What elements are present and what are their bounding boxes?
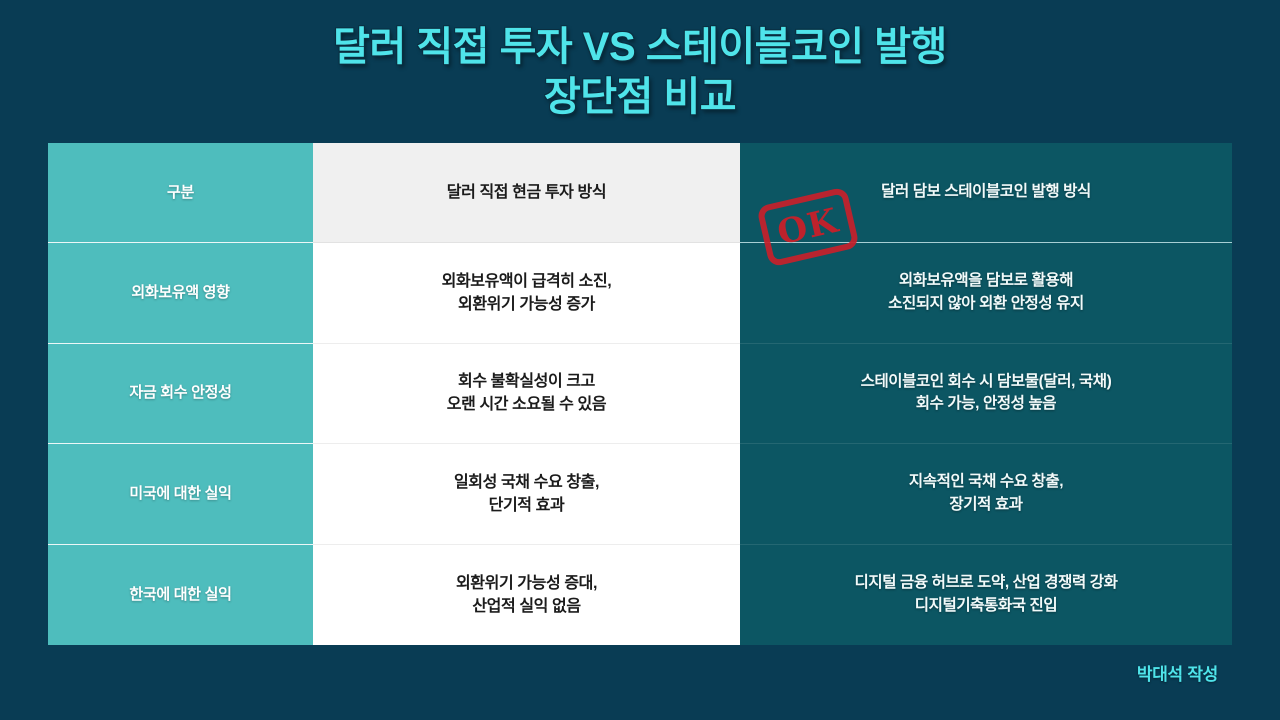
row-col3-cell: 외화보유액을 담보로 활용해 소진되지 않아 외환 안정성 유지 <box>740 243 1232 344</box>
row-col2-cell: 외화보유액이 급격히 소진, 외환위기 가능성 증가 <box>313 243 740 344</box>
table-row: 한국에 대한 실익 외환위기 가능성 증대, 산업적 실익 없음 디지털 금융 … <box>48 545 1232 646</box>
table-header-col3: 달러 담보 스테이블코인 발행 방식 <box>740 143 1232 243</box>
table-header-col2: 달러 직접 현금 투자 방식 <box>313 143 740 243</box>
row-col2-line-2: 단기적 효과 <box>454 494 599 517</box>
row-label-cell: 한국에 대한 실익 <box>48 545 313 646</box>
row-col3-line-2: 디지털기축통화국 진입 <box>855 595 1118 617</box>
page-title-line-2: 장단점 비교 <box>0 72 1280 122</box>
row-label-cell: 자금 회수 안정성 <box>48 344 313 445</box>
table-header-col2-label: 달러 직접 현금 투자 방식 <box>447 181 606 204</box>
row-col3-text: 스테이블코인 회수 시 담보물(달러, 국채) 회수 가능, 안정성 높음 <box>861 371 1112 416</box>
row-col3-line-2: 장기적 효과 <box>909 494 1063 516</box>
table-row: 미국에 대한 실익 일회성 국채 수요 창출, 단기적 효과 지속적인 국채 수… <box>48 444 1232 545</box>
row-label: 자금 회수 안정성 <box>129 382 231 404</box>
row-col2-text: 외화보유액이 급격히 소진, 외환위기 가능성 증가 <box>442 270 612 316</box>
table-row: 외화보유액 영향 외화보유액이 급격히 소진, 외환위기 가능성 증가 외화보유… <box>48 243 1232 344</box>
row-col3-text: 디지털 금융 허브로 도약, 산업 경쟁력 강화 디지털기축통화국 진입 <box>855 572 1118 617</box>
row-col2-line-1: 일회성 국채 수요 창출, <box>454 471 599 494</box>
table-row: 자금 회수 안정성 회수 불확실성이 크고 오랜 시간 소요될 수 있음 스테이… <box>48 344 1232 445</box>
slide-root: 달러 직접 투자 VS 스테이블코인 발행 장단점 비교 구분 달러 직접 현금… <box>0 0 1280 720</box>
row-col3-line-1: 지속적인 국채 수요 창출, <box>909 471 1063 493</box>
row-col2-cell: 일회성 국채 수요 창출, 단기적 효과 <box>313 444 740 545</box>
footer-credit: 박대석 작성 <box>1137 660 1218 685</box>
page-title: 달러 직접 투자 VS 스테이블코인 발행 장단점 비교 <box>0 22 1280 122</box>
row-col2-line-1: 외화보유액이 급격히 소진, <box>442 270 612 293</box>
row-col3-line-1: 스테이블코인 회수 시 담보물(달러, 국채) <box>861 371 1112 393</box>
row-col2-line-2: 오랜 시간 소요될 수 있음 <box>447 393 606 416</box>
row-col2-text: 일회성 국채 수요 창출, 단기적 효과 <box>454 471 599 517</box>
row-col3-line-1: 외화보유액을 담보로 활용해 <box>888 270 1084 292</box>
row-col3-line-2: 회수 가능, 안정성 높음 <box>861 393 1112 415</box>
page-title-line-1: 달러 직접 투자 VS 스테이블코인 발행 <box>0 22 1280 72</box>
row-col3-line-2: 소진되지 않아 외환 안정성 유지 <box>888 293 1084 315</box>
row-col3-text: 외화보유액을 담보로 활용해 소진되지 않아 외환 안정성 유지 <box>888 270 1084 315</box>
row-col2-line-1: 외환위기 가능성 증대, <box>456 572 597 595</box>
table-header-col1: 구분 <box>48 143 313 243</box>
row-col2-cell: 회수 불확실성이 크고 오랜 시간 소요될 수 있음 <box>313 344 740 445</box>
row-col2-line-2: 산업적 실익 없음 <box>456 595 597 618</box>
row-col2-text: 외환위기 가능성 증대, 산업적 실익 없음 <box>456 572 597 618</box>
row-col2-line-2: 외환위기 가능성 증가 <box>442 293 612 316</box>
table-header-row: 구분 달러 직접 현금 투자 방식 달러 담보 스테이블코인 발행 방식 <box>48 143 1232 243</box>
row-col3-line-1: 디지털 금융 허브로 도약, 산업 경쟁력 강화 <box>855 572 1118 594</box>
row-label: 미국에 대한 실익 <box>129 483 231 505</box>
row-label-cell: 외화보유액 영향 <box>48 243 313 344</box>
row-label: 한국에 대한 실익 <box>129 584 231 606</box>
row-col3-cell: 스테이블코인 회수 시 담보물(달러, 국채) 회수 가능, 안정성 높음 <box>740 344 1232 445</box>
row-label-cell: 미국에 대한 실익 <box>48 444 313 545</box>
comparison-table: 구분 달러 직접 현금 투자 방식 달러 담보 스테이블코인 발행 방식 외화보… <box>48 143 1232 645</box>
row-col2-line-1: 회수 불확실성이 크고 <box>447 370 606 393</box>
row-col2-cell: 외환위기 가능성 증대, 산업적 실익 없음 <box>313 545 740 646</box>
table-header-col1-label: 구분 <box>167 182 194 204</box>
row-col3-text: 지속적인 국채 수요 창출, 장기적 효과 <box>909 471 1063 516</box>
row-label: 외화보유액 영향 <box>131 282 229 304</box>
row-col3-cell: 지속적인 국채 수요 창출, 장기적 효과 <box>740 444 1232 545</box>
row-col2-text: 회수 불확실성이 크고 오랜 시간 소요될 수 있음 <box>447 370 606 416</box>
row-col3-cell: 디지털 금융 허브로 도약, 산업 경쟁력 강화 디지털기축통화국 진입 <box>740 545 1232 646</box>
table-header-col3-label: 달러 담보 스테이블코인 발행 방식 <box>881 181 1091 203</box>
